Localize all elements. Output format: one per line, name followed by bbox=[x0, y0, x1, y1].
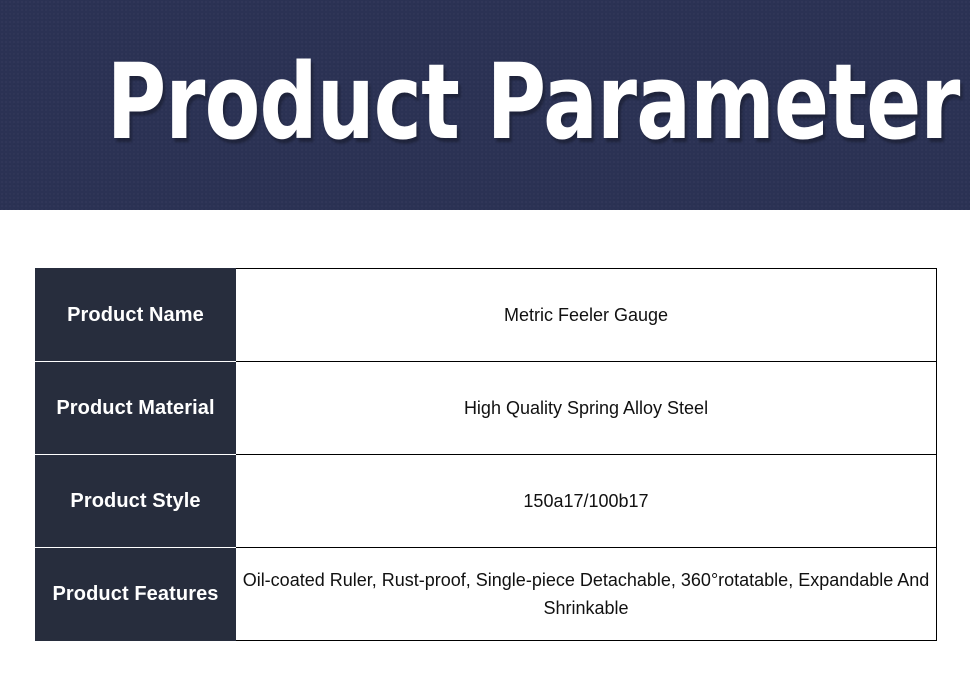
table-row: Product Style 150a17/100b17 bbox=[36, 455, 937, 548]
row-label-product-name: Product Name bbox=[36, 269, 236, 362]
row-label-product-style: Product Style bbox=[36, 455, 236, 548]
table-row: Product Features Oil-coated Ruler, Rust-… bbox=[36, 548, 937, 641]
row-value-product-style: 150a17/100b17 bbox=[236, 455, 937, 548]
product-parameter-table: Product Name Metric Feeler Gauge Product… bbox=[35, 268, 937, 641]
row-value-text: High Quality Spring Alloy Steel bbox=[242, 394, 930, 422]
table-row: Product Name Metric Feeler Gauge bbox=[36, 269, 937, 362]
product-parameter-page: Product Parameter Product Name Metric Fe… bbox=[0, 0, 970, 691]
row-value-product-material: High Quality Spring Alloy Steel bbox=[236, 362, 937, 455]
row-label-product-features: Product Features bbox=[36, 548, 236, 641]
row-value-text: Metric Feeler Gauge bbox=[242, 301, 930, 329]
row-value-product-name: Metric Feeler Gauge bbox=[236, 269, 937, 362]
row-label-product-material: Product Material bbox=[36, 362, 236, 455]
page-title: Product Parameter bbox=[107, 46, 864, 158]
row-value-text: Oil-coated Ruler, Rust-proof, Single-pie… bbox=[242, 566, 930, 622]
row-value-product-features: Oil-coated Ruler, Rust-proof, Single-pie… bbox=[236, 548, 937, 641]
header-banner: Product Parameter bbox=[0, 0, 970, 210]
table-row: Product Material High Quality Spring All… bbox=[36, 362, 937, 455]
row-value-text: 150a17/100b17 bbox=[242, 487, 930, 515]
